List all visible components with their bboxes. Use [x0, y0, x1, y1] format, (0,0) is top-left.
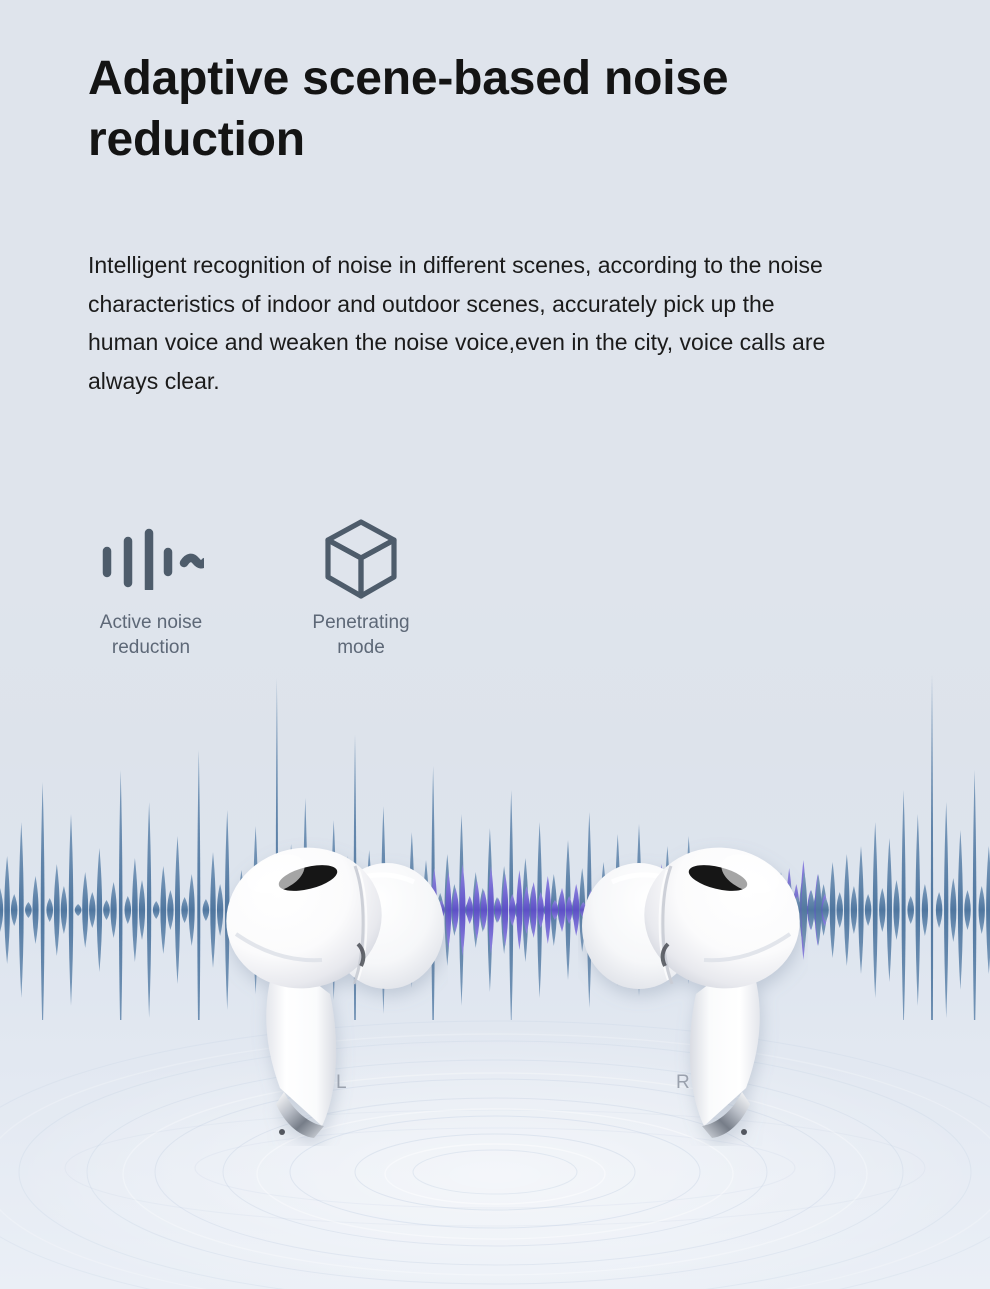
waveform-bar [175, 836, 180, 984]
waveform-bar [879, 888, 885, 932]
waveform-bar [54, 864, 60, 956]
cube-icon [322, 516, 400, 602]
waveform-bar [19, 822, 24, 998]
waveform-bar [132, 858, 138, 962]
waveform-bar [153, 901, 160, 919]
waveform-bar [147, 802, 151, 1018]
waveform-bar [69, 814, 74, 1006]
waveform-bar [203, 899, 210, 921]
waveform-bar [61, 886, 67, 934]
waveform-bar [189, 874, 195, 946]
waveform-bar [82, 872, 88, 948]
earbud-right: R [578, 826, 808, 1151]
waveform-bar [4, 856, 10, 964]
waveform-bar [75, 904, 82, 916]
earbud-left-marking: L [336, 1072, 347, 1093]
waveform-bar [97, 848, 102, 972]
audio-waveform [0, 600, 990, 1020]
waveform-bar [858, 846, 863, 974]
waveform-bar [830, 862, 836, 958]
waveform-bar [160, 866, 166, 954]
waveform-bar [944, 802, 948, 1018]
waveform-bar [516, 870, 522, 950]
waveform-bar [907, 896, 914, 924]
waveform-bar [181, 897, 188, 923]
sound-wave-icon [98, 516, 204, 602]
waveform-bar [936, 892, 942, 928]
waveform-bar [11, 894, 18, 926]
waveform-bar [836, 892, 842, 928]
waveform-bar [210, 852, 215, 968]
waveform-bar [958, 830, 963, 990]
waveform-bar [865, 894, 872, 926]
waveform-bar [167, 890, 173, 930]
waveform-bar [139, 880, 145, 940]
waveform-bar [986, 846, 990, 974]
waveform-bar [32, 876, 38, 944]
waveform-bar [41, 782, 45, 1020]
waveform-bar [110, 882, 116, 938]
waveform-bar [530, 882, 536, 938]
page-title: Adaptive scene-based noise reduction [88, 48, 848, 171]
waveform-bar [973, 770, 977, 1020]
waveform-bar [46, 898, 53, 922]
waveform-bar [103, 900, 110, 920]
waveform-bar [119, 770, 123, 1020]
product-feature-page: Adaptive scene-based noise reduction Int… [0, 0, 990, 1289]
waveform-bar [466, 896, 473, 924]
waveform-bar [89, 892, 95, 928]
waveform-bar [0, 888, 3, 932]
waveform-right-channel [787, 674, 990, 1020]
waveform-bar [197, 750, 200, 1020]
waveform-bar [931, 674, 933, 1020]
waveform-bar [916, 814, 921, 1006]
waveform-bar [950, 878, 956, 942]
waveform-bar [887, 838, 892, 982]
waveform-bar [844, 854, 850, 966]
waveform-bar [873, 822, 878, 998]
waveform-bar [922, 884, 928, 936]
description-text: Intelligent recognition of noise in diff… [88, 246, 848, 401]
earbud-right-marking: R [676, 1072, 690, 1093]
waveform-bar [545, 876, 551, 944]
waveform-bar [902, 790, 906, 1020]
waveform-bar [979, 886, 985, 934]
earbud-left: L [218, 826, 448, 1151]
waveform-bar [964, 890, 970, 930]
waveform-bar [25, 902, 32, 918]
waveform-bar [559, 888, 565, 932]
waveform-bar [125, 896, 132, 924]
waveform-bar [851, 886, 857, 934]
waveform-bar [893, 880, 899, 940]
